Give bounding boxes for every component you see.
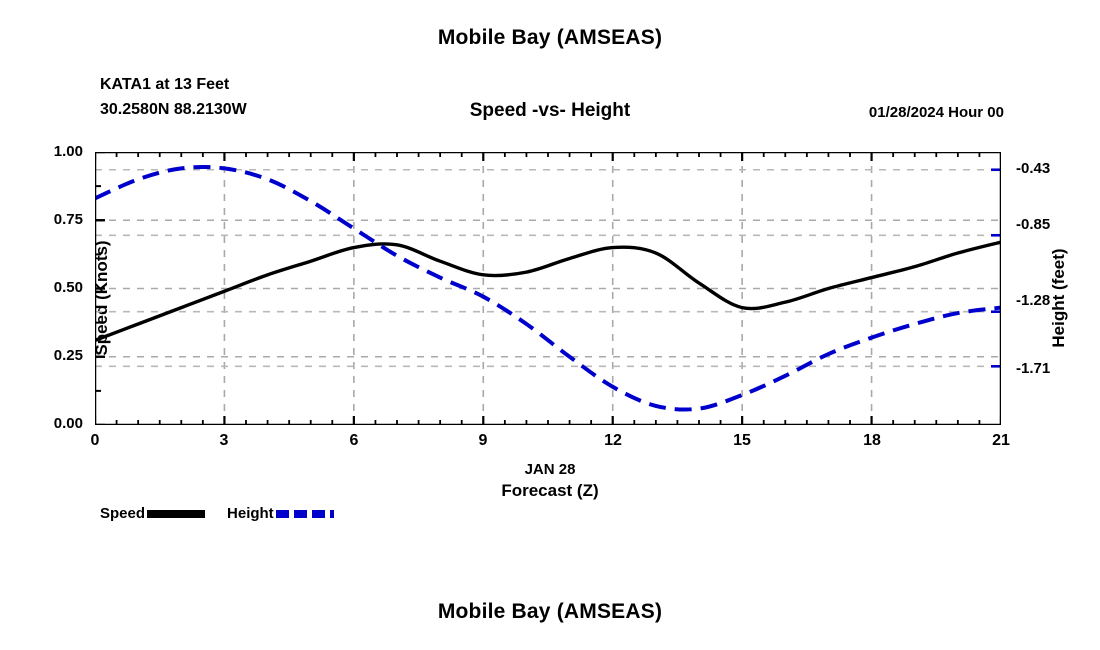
y-tick-left-5: 0.00 — [54, 415, 83, 432]
x-axis-title: Forecast (Z) — [0, 481, 1100, 501]
x-tick-12: 12 — [583, 432, 643, 450]
legend-label-speed: Speed — [100, 505, 145, 522]
chart-page: Mobile Bay (AMSEAS) KATA1 at 13 Feet 30.… — [0, 0, 1100, 650]
plot-area — [95, 152, 1001, 425]
x-tick-6: 6 — [324, 432, 384, 450]
x-tick-9: 9 — [453, 432, 513, 450]
y-tick-left-2: 0.75 — [54, 211, 83, 228]
chart-legend: Speed Height — [100, 505, 356, 522]
y-tick-left-1: 1.00 — [54, 143, 83, 160]
legend-item-height: Height — [227, 505, 356, 522]
legend-swatch-speed — [147, 510, 205, 518]
y-tick-right-1: -0.43 — [1016, 160, 1050, 177]
legend-item-speed: Speed — [100, 505, 227, 522]
page-title: Mobile Bay (AMSEAS) — [0, 26, 1100, 50]
x-tick-15: 15 — [712, 432, 772, 450]
y-tick-right-3: -1.28 — [1016, 292, 1050, 309]
legend-swatch-height — [276, 510, 334, 518]
station-name-depth: KATA1 at 13 Feet — [100, 72, 247, 97]
chart-canvas — [95, 152, 1001, 425]
x-tick-0: 0 — [65, 432, 125, 450]
y-axis-right-title: Height (feet) — [1049, 178, 1069, 418]
x-tick-3: 3 — [194, 432, 254, 450]
footer-title: Mobile Bay (AMSEAS) — [0, 600, 1100, 624]
y-tick-right-4: -1.71 — [1016, 360, 1050, 377]
y-tick-right-2: -0.85 — [1016, 216, 1050, 233]
series-line-speed — [95, 242, 1001, 340]
x-tick-18: 18 — [842, 432, 902, 450]
y-tick-left-4: 0.25 — [54, 347, 83, 364]
x-tick-21: 21 — [971, 432, 1031, 450]
model-run-timestamp: 01/28/2024 Hour 00 — [869, 104, 1004, 121]
x-axis-day-label: JAN 28 — [0, 461, 1100, 478]
legend-label-height: Height — [227, 505, 274, 522]
y-tick-left-3: 0.50 — [54, 279, 83, 296]
